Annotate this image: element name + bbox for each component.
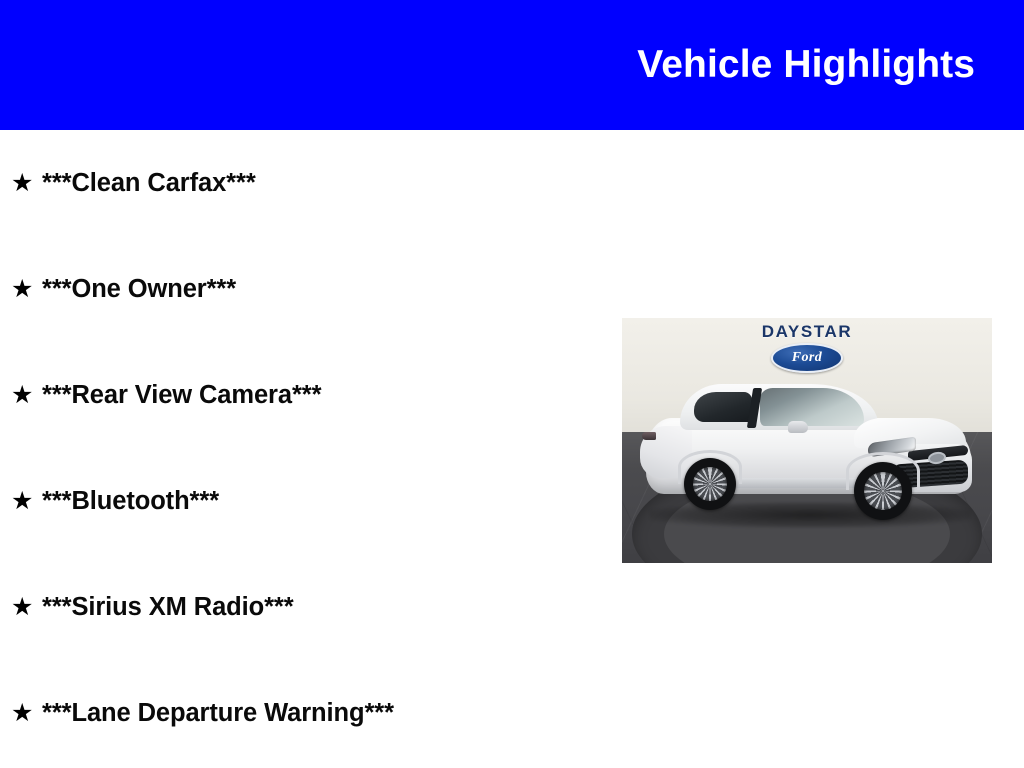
- side-mirror: [788, 421, 808, 433]
- highlight-label: ***Sirius XM Radio***: [42, 593, 294, 622]
- highlight-label: ***One Owner***: [42, 275, 236, 304]
- ford-wordmark: Ford: [792, 351, 822, 365]
- taillight: [642, 432, 656, 440]
- page-title: Vehicle Highlights: [637, 43, 975, 87]
- list-item: ★ ***Lane Departure Warning***: [0, 660, 610, 766]
- rear-side-window: [694, 392, 752, 422]
- star-icon: ★: [11, 489, 42, 514]
- car-illustration: [632, 366, 984, 534]
- highlight-label: ***Lane Departure Warning***: [42, 699, 394, 728]
- rear-wheel: [684, 458, 736, 510]
- star-icon: ★: [11, 277, 42, 302]
- list-item: ★ ***Bluetooth***: [0, 448, 610, 554]
- vehicle-photo: DAYSTAR Ford: [622, 318, 992, 563]
- highlight-label: ***Bluetooth***: [42, 487, 219, 516]
- star-icon: ★: [11, 701, 42, 726]
- star-icon: ★: [11, 383, 42, 408]
- list-item: ★ ***Sirius XM Radio***: [0, 554, 610, 660]
- star-icon: ★: [11, 595, 42, 620]
- list-item: ★ ***One Owner***: [0, 236, 610, 342]
- list-item: ★ ***Clean Carfax***: [0, 130, 610, 236]
- highlight-label: ***Clean Carfax***: [42, 169, 256, 198]
- front-wheel: [854, 462, 912, 520]
- list-item: ★ ***Rear View Camera***: [0, 342, 610, 448]
- star-icon: ★: [11, 171, 42, 196]
- dealer-name: DAYSTAR: [722, 323, 892, 341]
- header-banner: Vehicle Highlights: [0, 0, 1024, 130]
- highlight-label: ***Rear View Camera***: [42, 381, 321, 410]
- vehicle-highlights-list: ★ ***Clean Carfax*** ★ ***One Owner*** ★…: [0, 130, 610, 766]
